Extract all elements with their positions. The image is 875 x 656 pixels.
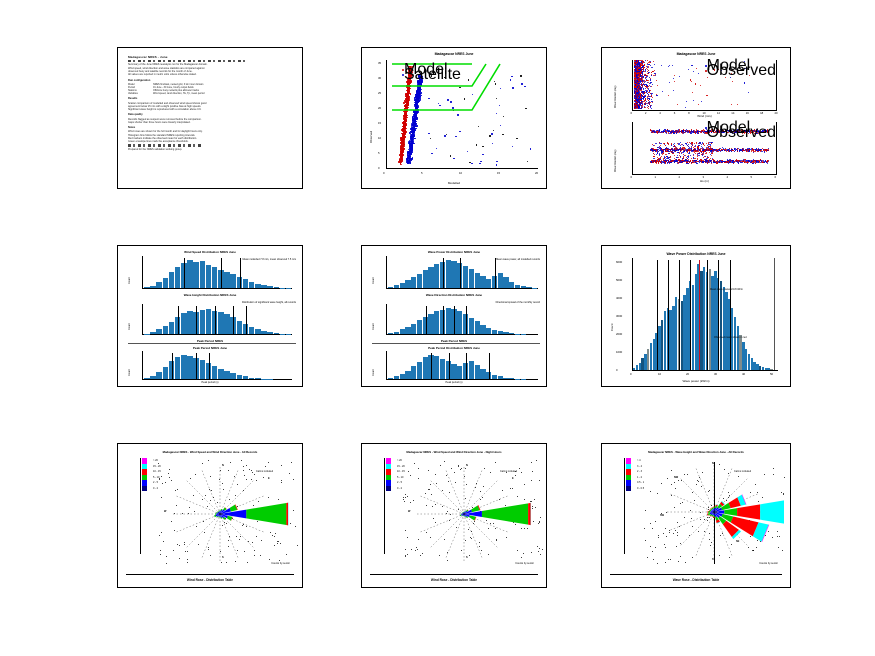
document-note-line-4: Green envelope lines mark the acceptance… [128, 140, 294, 143]
scatter-point [644, 82, 645, 83]
scatter-point [644, 100, 645, 101]
scatter-point [693, 100, 694, 101]
scatter-point [719, 162, 720, 163]
scatter-point [648, 100, 649, 101]
scatter-point [720, 151, 721, 152]
scatter-point [698, 73, 699, 74]
scatter-point [732, 162, 733, 163]
scatter-point [656, 95, 657, 96]
scatter-point [753, 152, 754, 153]
scatter-point [635, 108, 636, 109]
scatter-point [653, 75, 654, 76]
scatter-point [766, 151, 767, 152]
scatter-point [650, 83, 651, 84]
scatter-point [654, 64, 655, 65]
scatter-point [656, 132, 657, 133]
document-footer: Prepared for the NRES validation working… [128, 148, 294, 151]
scatter-point [726, 151, 727, 152]
scatter-point [644, 71, 645, 72]
scatter-point [693, 71, 694, 72]
scatter-point [762, 160, 763, 161]
scatter-point [691, 65, 692, 66]
document-result-line-3: Significant wave height is reproduced wi… [128, 108, 294, 111]
scatter-point [637, 82, 638, 83]
scatter-point [751, 151, 752, 152]
scatter-point [661, 132, 662, 133]
document-intro-line-4: All values are reported in metric units … [128, 73, 294, 76]
scatter-point [637, 86, 638, 87]
scatter-point [652, 71, 653, 72]
scatter-point [744, 82, 745, 83]
scatter-point [656, 80, 657, 81]
scatter-point [646, 79, 647, 80]
scatter-point [639, 78, 640, 79]
scatter-point [640, 98, 641, 99]
scatter-point [698, 104, 699, 105]
scatter-point [643, 98, 644, 99]
scatter-point [653, 61, 654, 62]
stacked-scatter-title: Madagascar NRES June [602, 52, 790, 56]
scatter-point [686, 101, 687, 102]
scatter-point [637, 95, 638, 96]
scatter-point [690, 133, 691, 134]
scatter-point [762, 162, 763, 163]
scatter-point [647, 107, 648, 108]
scatter-point [673, 78, 674, 79]
scatter-point [674, 75, 675, 76]
scatter-point [645, 90, 646, 91]
scatter-point [752, 163, 753, 164]
scatter-point [639, 81, 640, 82]
scatter-point [650, 62, 651, 63]
scatter-point [650, 102, 651, 103]
scatter-point [635, 71, 636, 72]
scatter-point [682, 130, 683, 131]
scatter-point [640, 72, 641, 73]
scatter-point [679, 76, 680, 77]
scatter-point [703, 132, 704, 133]
document-section-quality: Data quality [128, 113, 294, 117]
scatter-point [733, 163, 734, 164]
scatter-point [641, 107, 642, 108]
scatter-point [701, 101, 702, 102]
scatter-xtick: 15 [497, 171, 500, 175]
scatter-point [685, 107, 686, 108]
scatter-point [648, 98, 649, 99]
scatter-point [716, 149, 717, 150]
scatter-point [648, 102, 649, 103]
scatter-point [747, 163, 748, 164]
scatter-point [635, 101, 636, 102]
scatter-point [650, 79, 651, 80]
scatter-point [637, 73, 638, 74]
scatter-point [662, 91, 663, 92]
scatter-point [649, 72, 650, 73]
stacked-top-legend: Model Observed [705, 63, 776, 74]
scatter-point [668, 66, 669, 67]
scatter-ytick: 0 [378, 166, 380, 170]
scatter-point [655, 162, 656, 163]
scatter-ytick: 10 [378, 136, 381, 140]
scatter-xtick: 0 [383, 171, 385, 175]
scatter-point [650, 78, 651, 79]
scatter-point [737, 104, 738, 105]
scatter-point [654, 73, 655, 74]
scatter-legend: Model Satellite [402, 67, 461, 78]
stacked-bottom-yaxis-label: Wave Direction (deg) [614, 150, 617, 172]
legend-label-observed: Observed [707, 62, 776, 80]
document-section-configuration: Run configuration [128, 79, 294, 83]
scatter-point [645, 107, 646, 108]
scatter-xtick: 5 [421, 171, 423, 175]
scatter-point [740, 162, 741, 163]
config-value: Wind speed, wind direction, Hs, Tp, mean… [153, 92, 294, 95]
scatter-point [721, 149, 722, 150]
scatter-point [642, 82, 643, 83]
scatter-point [720, 160, 721, 161]
scatter-point [644, 92, 645, 93]
scatter-point [648, 62, 649, 63]
scatter-point [692, 92, 693, 93]
scatter-point [671, 162, 672, 163]
scatter-point [674, 162, 675, 163]
scatter-point [674, 81, 675, 82]
scatter-ytick: 15 [378, 121, 381, 125]
scatter-point [648, 64, 649, 65]
scatter-point [698, 133, 699, 134]
scatter-point [669, 65, 670, 66]
scatter-point [650, 65, 651, 66]
scatter-point [742, 151, 743, 152]
scatter-point [673, 90, 674, 91]
document-section-results: Results [128, 97, 294, 101]
scatter-ytick: 30 [378, 76, 381, 80]
scatter-ytick: 35 [378, 61, 381, 65]
scatter-point [654, 70, 655, 71]
scatter-point [637, 68, 638, 69]
scatter-point [677, 104, 678, 105]
scatter-point [748, 92, 749, 93]
scatter-point [737, 150, 738, 151]
scatter-point [639, 88, 640, 89]
scatter-point [711, 163, 712, 164]
scatter-point [652, 102, 653, 103]
scatter-point [638, 105, 639, 106]
scatter-ytick: 5 [378, 151, 380, 155]
scatter-point [648, 67, 649, 68]
scatter-point [731, 162, 732, 163]
scatter-point [688, 69, 689, 70]
legend-label-satellite: Satellite [404, 66, 461, 84]
scatter-point [651, 105, 652, 106]
scatter-point [637, 74, 638, 75]
scatter-point [751, 162, 752, 163]
scatter-ytick: 25 [378, 91, 381, 95]
scatter-point [634, 75, 635, 76]
scatter-point [688, 132, 689, 133]
scatter-point [642, 77, 643, 78]
scatter-point [635, 93, 636, 94]
scatter-point [643, 89, 644, 90]
scatter-point [641, 97, 642, 98]
scatter-point [732, 81, 733, 82]
scatter-point [688, 163, 689, 164]
document-quality-line-2: Gaps shorter than three hours were linea… [128, 121, 294, 124]
scatter-point [728, 160, 729, 161]
scatter-point [734, 162, 735, 163]
scatter-point [731, 104, 732, 105]
scatter-point [643, 84, 644, 85]
scatter-point [658, 151, 659, 152]
scatter-point [648, 96, 649, 97]
scatter-point [647, 71, 648, 72]
scatter-point [651, 72, 652, 73]
panel-summary-document: Madagascar NRES - June Summary of the Ju… [117, 47, 303, 189]
scatter-point [696, 68, 697, 69]
stacked-top-yaxis-label: Wave Direction (deg) [614, 86, 617, 108]
scatter-point [668, 95, 669, 96]
scatter-point [647, 76, 648, 77]
scatter-point [768, 148, 769, 149]
scatter-point [661, 65, 662, 66]
scatter-ytick: 20 [378, 106, 381, 110]
scatter-xtick: 20 [535, 171, 538, 175]
panel-scatter-windspeed: Madagascar NRES June Modelled Observed 0… [361, 47, 547, 189]
document-heading: Madagascar NRES - June [128, 55, 294, 59]
scatter-point [695, 83, 696, 84]
scatter-point [747, 151, 748, 152]
scatter-point [635, 84, 636, 85]
scatter-point [635, 92, 636, 93]
scatter-point [691, 81, 692, 82]
scatter-point [638, 99, 639, 100]
scatter-point [706, 95, 707, 96]
scatter-point [647, 82, 648, 83]
scatter-point [648, 72, 649, 73]
config-key: Variables [128, 92, 150, 95]
scatter-point [651, 108, 652, 109]
report-sheet: Madagascar NRES - June Summary of the Ju… [0, 0, 875, 656]
scatter-point [652, 84, 653, 85]
document-section-notes: Notes [128, 126, 294, 130]
scatter-point [658, 162, 659, 163]
scatter-point [652, 97, 653, 98]
scatter-point [646, 101, 647, 102]
scatter-point [651, 74, 652, 75]
scatter-point [700, 85, 701, 86]
scatter-point [655, 75, 656, 76]
stacked-bottom-xaxis-label: Hs (m) [632, 179, 777, 183]
scatter-point [652, 67, 653, 68]
scatter-point [656, 161, 657, 162]
scatter-point [651, 86, 652, 87]
scatter-point [672, 65, 673, 66]
scatter-point [657, 85, 658, 86]
panel-scatter-direction: Madagascar NRES June Wave Direction (deg… [601, 47, 791, 189]
scatter-point [669, 82, 670, 83]
document-body: Madagascar NRES - June Summary of the Ju… [128, 55, 294, 182]
scatter-xtick: 10 [459, 171, 462, 175]
document-config-row: Variables Wind speed, wind direction, Hs… [128, 92, 294, 95]
scatter-point [679, 131, 680, 132]
scatter-point [662, 132, 663, 133]
scatter-point [637, 60, 638, 61]
scatter-point [644, 107, 645, 108]
scatter-point [650, 105, 651, 106]
scatter-point [635, 73, 636, 74]
scatter-point [651, 94, 652, 95]
scatter-point [645, 98, 646, 99]
scatter-point [724, 162, 725, 163]
